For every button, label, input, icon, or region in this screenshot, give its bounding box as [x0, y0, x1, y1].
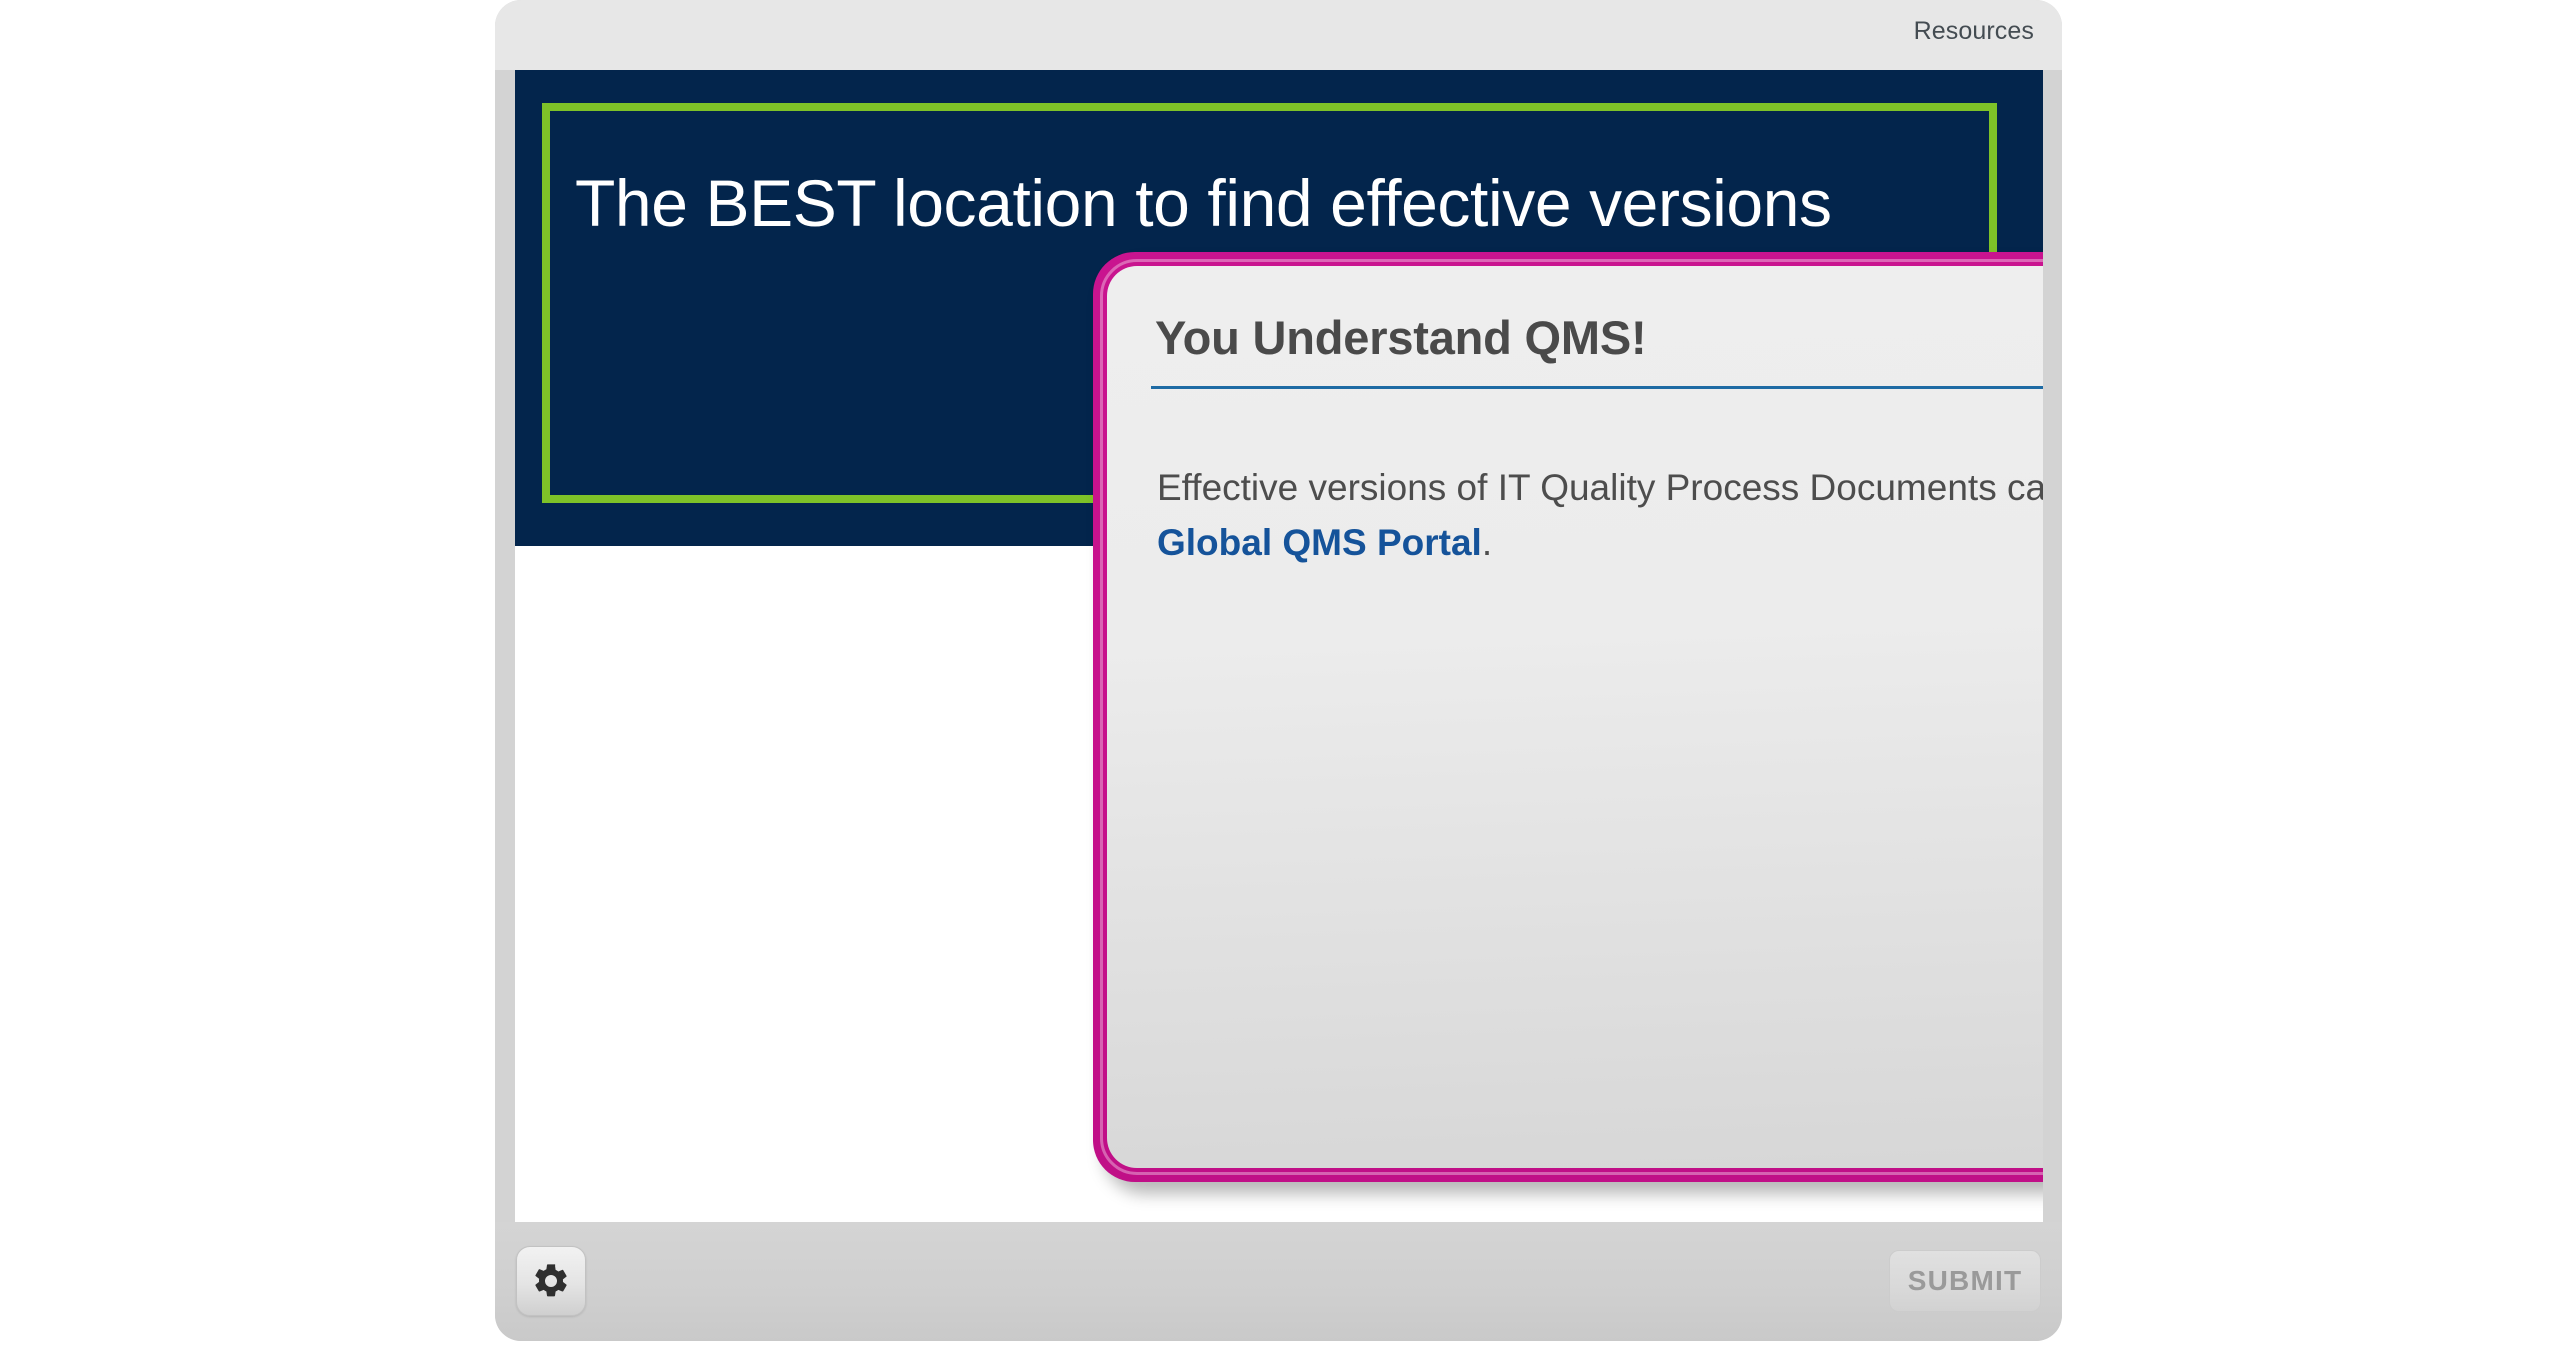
slide-canvas: The BEST location to find effective vers…	[515, 70, 2043, 1222]
feedback-title-divider	[1151, 386, 2043, 389]
gear-icon	[531, 1261, 571, 1301]
submit-button[interactable]: SUBMIT	[1889, 1250, 2041, 1312]
player-footer: SUBMIT	[495, 1222, 2062, 1341]
banner-heading: The BEST location to find effective vers…	[575, 163, 1975, 244]
feedback-dialog-body: You Understand QMS! Effective versions o…	[1107, 266, 2043, 1168]
resources-link[interactable]: Resources	[1914, 17, 2034, 46]
global-qms-portal-link[interactable]: Global QMS Portal	[1157, 522, 1482, 563]
feedback-dialog: You Understand QMS! Effective versions o…	[1093, 252, 2043, 1182]
feedback-title: You Understand QMS!	[1155, 310, 1646, 365]
feedback-message-prefix: Effective versions of IT Quality Process…	[1157, 467, 2043, 508]
feedback-message-suffix: .	[1482, 522, 1492, 563]
feedback-message: Effective versions of IT Quality Process…	[1157, 461, 2043, 571]
course-player-frame: Resources The BEST location to find effe…	[495, 0, 2062, 1341]
player-topbar: Resources	[495, 0, 2062, 70]
screen: Resources The BEST location to find effe…	[0, 0, 2560, 1348]
settings-button[interactable]	[516, 1246, 586, 1316]
